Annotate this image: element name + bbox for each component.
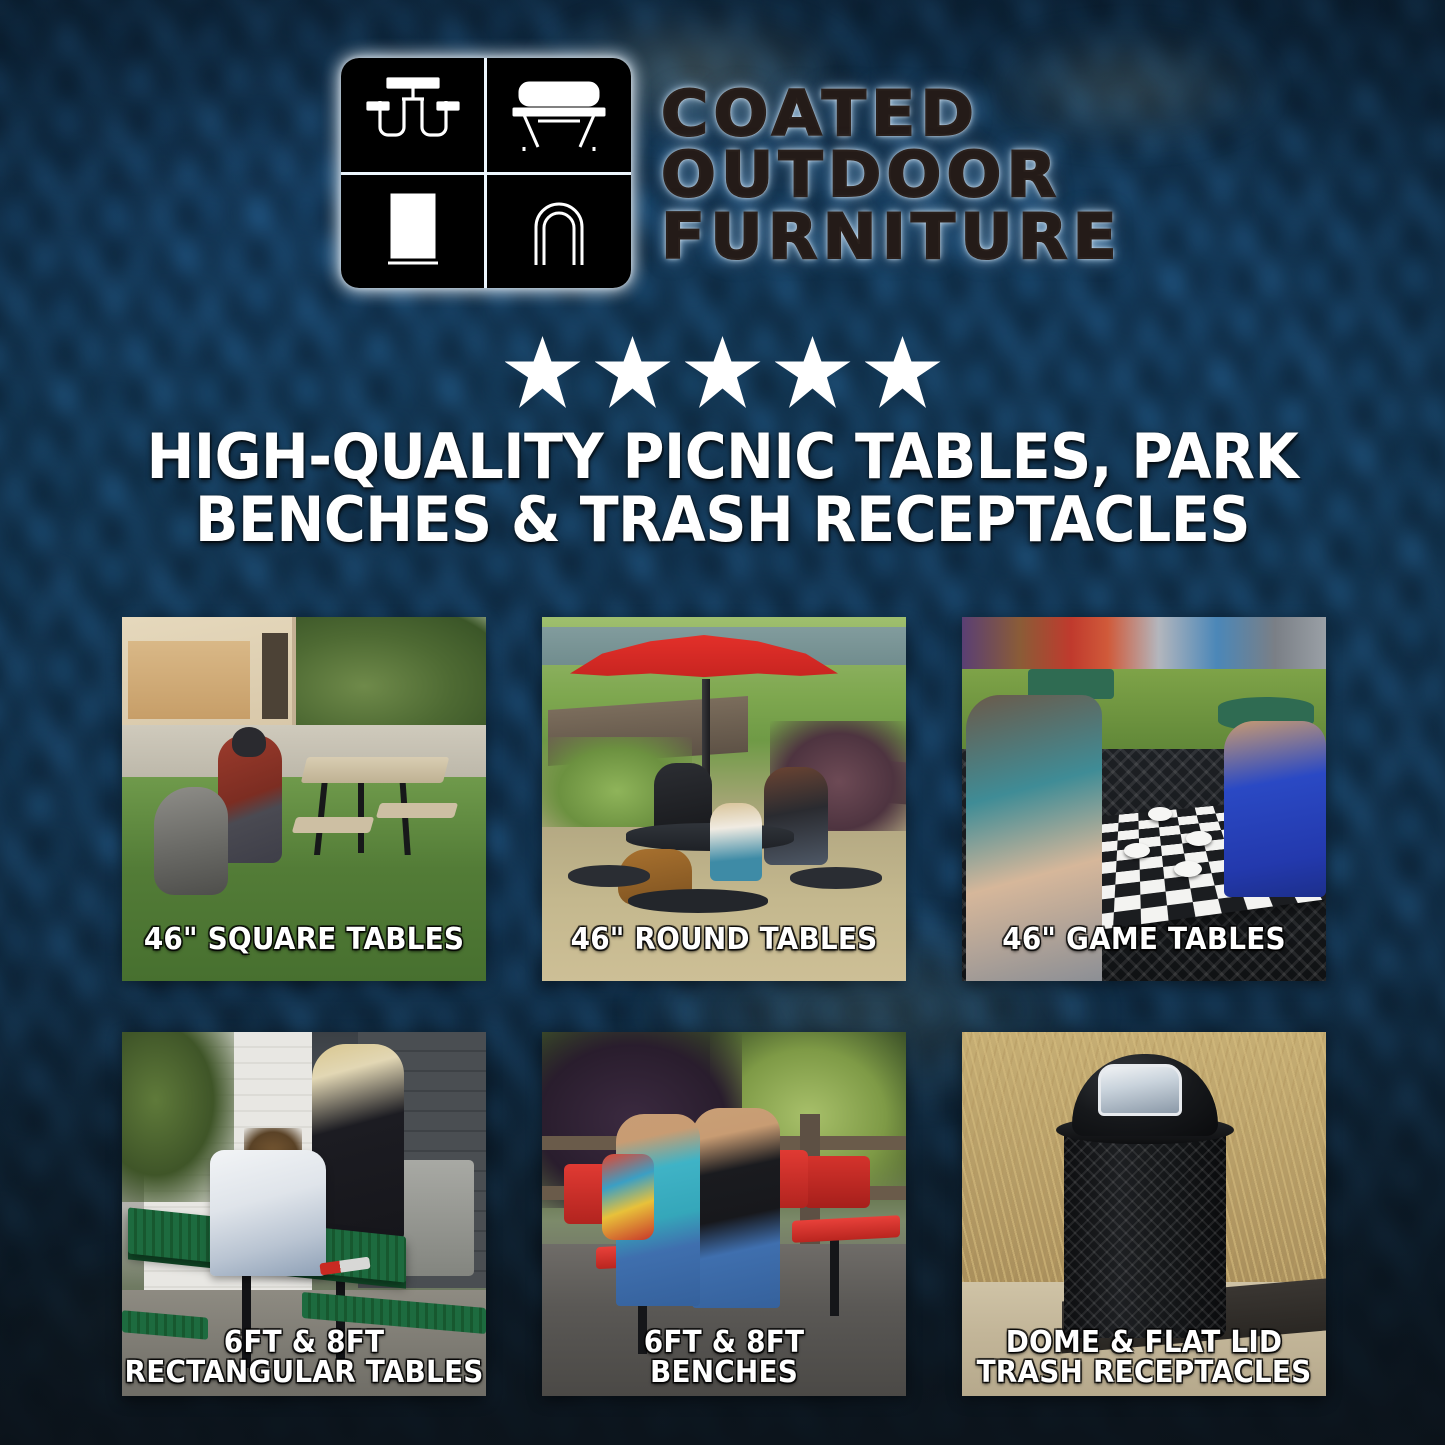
photo-checker-piece <box>1148 807 1172 821</box>
product-tile-game-tables[interactable]: 46" GAME TABLES <box>962 617 1326 981</box>
brand-name-line-3: FURNITURE <box>661 207 1122 267</box>
headline-line-1: HIGH-QUALITY PICNIC TABLES, PARK <box>113 425 1332 488</box>
photo-table-seat <box>790 867 882 889</box>
photo-table-seat <box>568 865 650 887</box>
photo-child <box>692 1108 780 1308</box>
star-icon-5 <box>865 336 941 408</box>
logo-icon-grid <box>341 58 631 288</box>
photo-lid-opening <box>1098 1064 1182 1116</box>
photo-square-table-top <box>301 757 449 783</box>
photo-checker-piece <box>1186 831 1212 846</box>
product-photo-square-tables <box>122 617 486 981</box>
photo-bench-leg <box>830 1234 839 1316</box>
dome-lid-icon <box>487 175 631 289</box>
photo-garage-door <box>128 641 250 719</box>
product-tile-rectangular-tables[interactable]: 6FT & 8FT RECTANGULAR TABLES <box>122 1032 486 1396</box>
star-icon-1 <box>505 336 581 408</box>
product-tile-square-tables[interactable]: 46" SQUARE TABLES <box>122 617 486 981</box>
photo-child <box>710 803 762 881</box>
brand-name-line-1: COATED <box>661 84 979 144</box>
product-photo-benches <box>542 1032 906 1396</box>
brand-name-line-2: OUTDOOR <box>661 145 1061 205</box>
photo-person-head <box>232 727 266 757</box>
photo-table-seat <box>292 817 375 833</box>
photo-soil-bag <box>210 1150 326 1276</box>
brand-name: COATED OUTDOOR FURNITURE <box>661 80 1104 267</box>
product-photo-rectangular-tables <box>122 1032 486 1396</box>
photo-table-seat <box>628 889 768 913</box>
bench-side-icon <box>487 58 631 172</box>
photo-bench-back <box>804 1156 870 1208</box>
photo-backpack <box>602 1154 654 1240</box>
star-icon-3 <box>685 336 761 408</box>
brand-logo: COATED OUTDOOR FURNITURE <box>0 58 1445 288</box>
product-grid: 46" SQUARE TABLES <box>122 617 1325 1396</box>
trash-receptacle-icon <box>341 175 485 289</box>
photo-fair-tents <box>962 617 1326 675</box>
picnic-table-front-icon <box>341 58 485 172</box>
product-tile-round-tables[interactable]: 46" ROUND TABLES <box>542 617 906 981</box>
photo-table-seat <box>376 803 458 818</box>
product-tile-trash-receptacles[interactable]: DOME & FLAT LID TRASH RECEPTACLES <box>962 1032 1326 1396</box>
page-title: HIGH-QUALITY PICNIC TABLES, PARK BENCHES… <box>113 425 1332 551</box>
photo-checker-piece <box>1174 861 1202 877</box>
photo-person <box>1224 721 1326 897</box>
product-photo-trash-receptacles <box>962 1032 1326 1396</box>
photo-checker-piece <box>1124 843 1150 858</box>
star-rating <box>0 336 1445 408</box>
photo-tree <box>272 617 486 739</box>
promotional-poster: COATED OUTDOOR FURNITURE HIGH-QUALITY PI… <box>0 0 1445 1445</box>
photo-person <box>764 767 828 865</box>
product-photo-round-tables <box>542 617 906 981</box>
photo-table-leg <box>242 1264 251 1368</box>
photo-person <box>966 695 1102 981</box>
star-icon-2 <box>595 336 671 408</box>
photo-window <box>262 633 288 719</box>
photo-receptacle-body <box>1064 1130 1226 1338</box>
photo-dog <box>154 787 228 895</box>
star-icon-4 <box>775 336 851 408</box>
product-tile-benches[interactable]: 6FT & 8FT BENCHES <box>542 1032 906 1396</box>
headline-line-2: BENCHES & TRASH RECEPTACLES <box>113 488 1332 551</box>
product-photo-game-tables <box>962 617 1326 981</box>
